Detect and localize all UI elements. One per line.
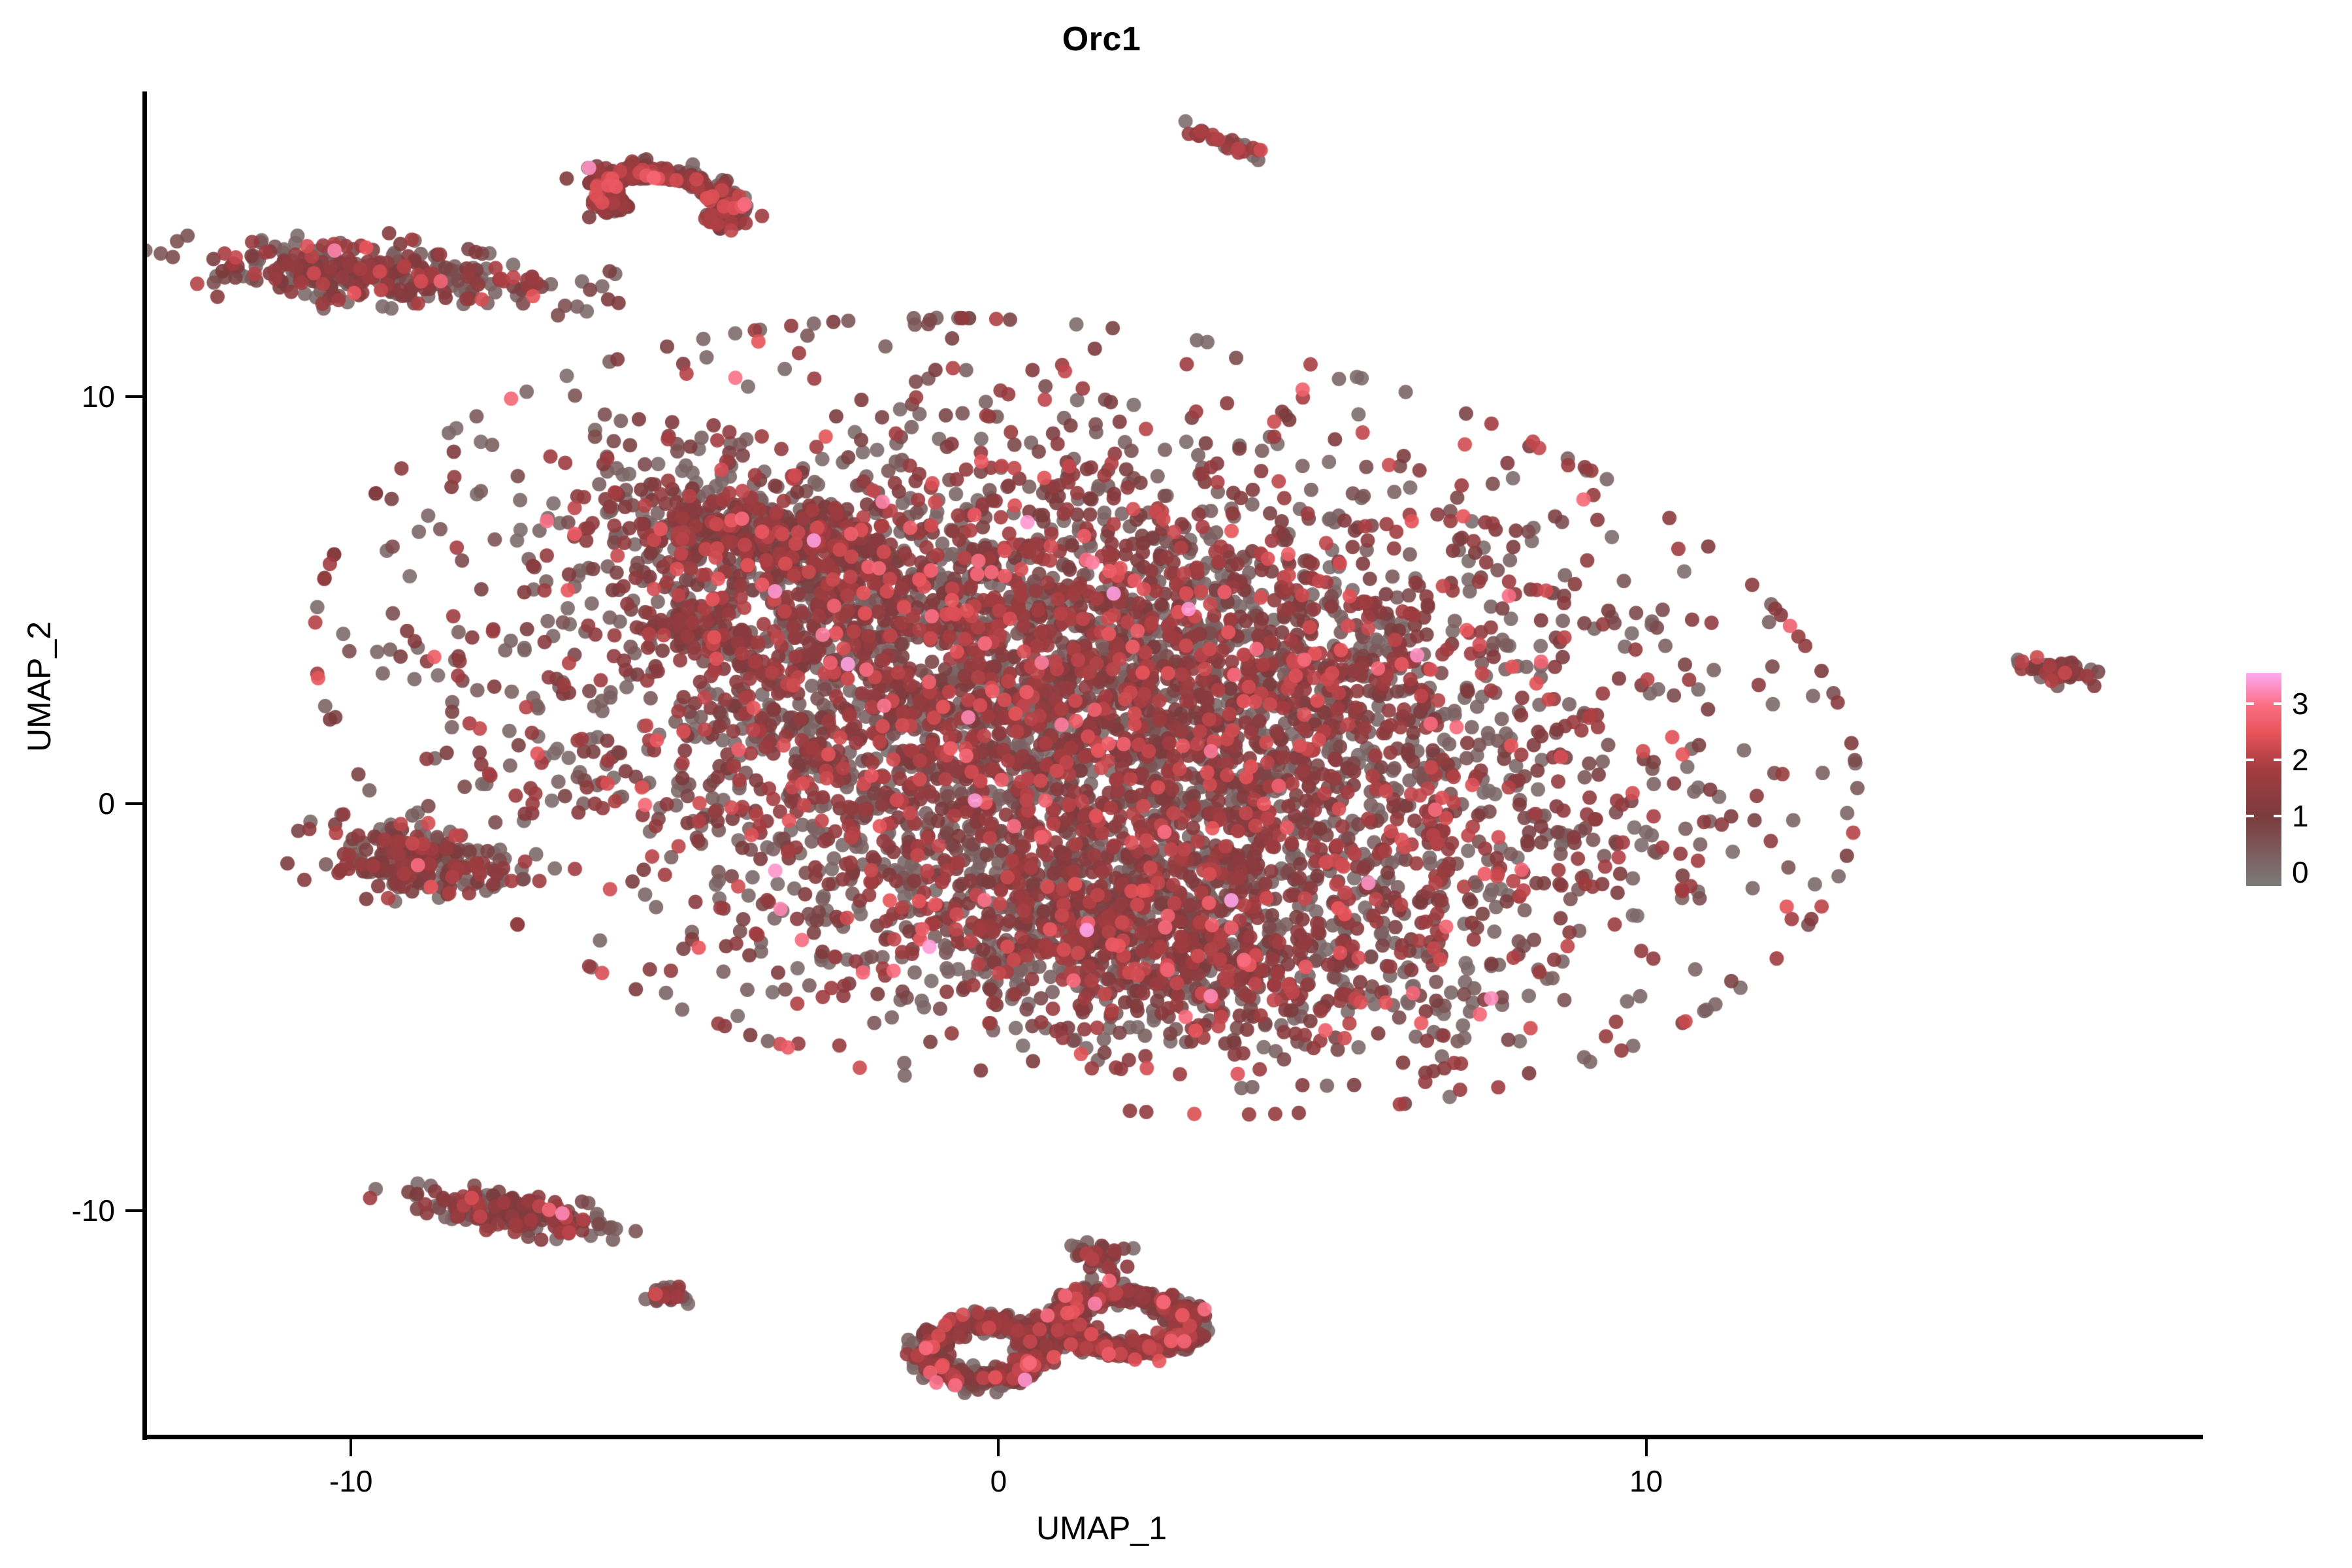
x-tick-label: 10 bbox=[1629, 1463, 1663, 1499]
colorbar-tick-label: 1 bbox=[2292, 798, 2309, 834]
page-title: Orc1 bbox=[0, 20, 2203, 59]
x-tick-mark bbox=[350, 1439, 352, 1456]
colorbar-tick-mark bbox=[2246, 815, 2254, 817]
y-tick-label: -10 bbox=[72, 1193, 115, 1228]
y-axis-line bbox=[142, 91, 147, 1440]
umap-feature-plot: Orc1 -10010 -10010 UMAP_1 UMAP_2 0123 bbox=[0, 0, 2352, 1568]
colorbar-legend: 0123 bbox=[2242, 668, 2340, 890]
colorbar-tick-mark bbox=[2274, 815, 2281, 817]
y-axis-label: UMAP_2 bbox=[20, 197, 58, 1177]
y-tick-mark bbox=[125, 395, 142, 398]
y-tick-label: 0 bbox=[98, 786, 115, 821]
x-axis-label: UMAP_1 bbox=[0, 1509, 2203, 1547]
y-tick-label: 10 bbox=[82, 379, 115, 414]
x-tick-label: -10 bbox=[329, 1463, 372, 1499]
colorbar-tick-mark bbox=[2274, 759, 2281, 761]
y-tick-mark bbox=[125, 1209, 142, 1212]
scatter-canvas bbox=[144, 91, 2203, 1439]
x-axis-line bbox=[142, 1435, 2203, 1439]
colorbar-tick-label: 0 bbox=[2292, 855, 2309, 890]
x-tick-mark bbox=[997, 1439, 1000, 1456]
y-tick-mark bbox=[125, 802, 142, 805]
x-tick-label: 0 bbox=[990, 1463, 1007, 1499]
colorbar-tick-mark bbox=[2274, 702, 2281, 705]
colorbar-tick-label: 2 bbox=[2292, 742, 2309, 777]
colorbar-tick-mark bbox=[2246, 759, 2254, 761]
colorbar-tick-label: 3 bbox=[2292, 686, 2309, 721]
colorbar-tick-mark bbox=[2246, 702, 2254, 705]
x-tick-mark bbox=[1645, 1439, 1648, 1456]
